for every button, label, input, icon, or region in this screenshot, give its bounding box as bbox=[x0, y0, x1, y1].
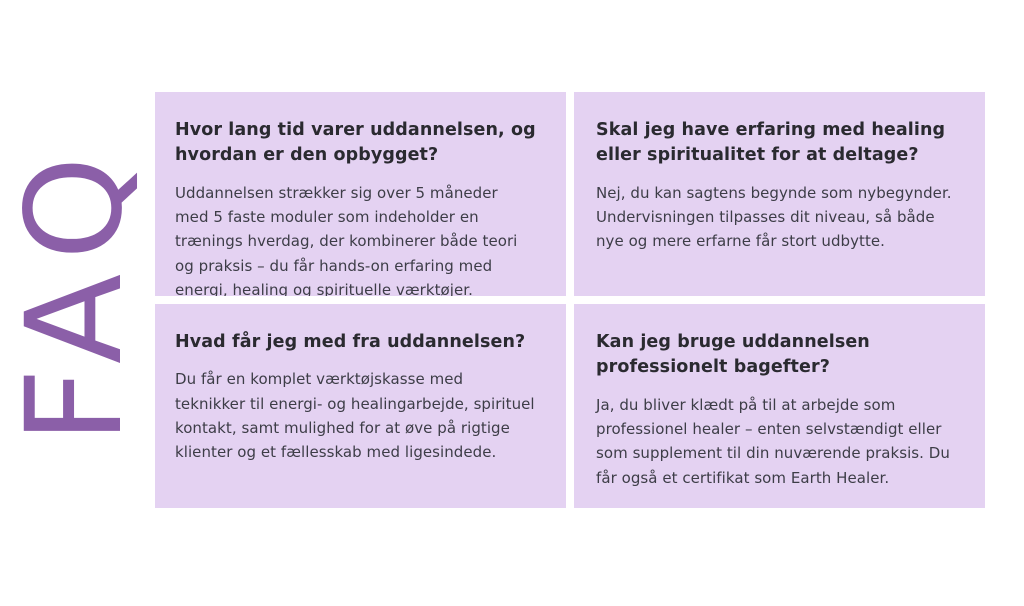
faq-answer: Ja, du bliver klædt på til at arbejde so… bbox=[596, 393, 955, 490]
faq-page: FAQ Hvor lang tid varer uddannelsen, og … bbox=[0, 0, 1024, 606]
faq-wordmark: FAQ bbox=[0, 92, 150, 492]
faq-question: Hvor lang tid varer uddannelsen, og hvor… bbox=[175, 118, 536, 169]
faq-question: Kan jeg bruge uddannelsen professionelt … bbox=[596, 330, 955, 381]
faq-answer: Nej, du kan sagtens begynde som nybegynd… bbox=[596, 181, 955, 254]
faq-card[interactable]: Hvor lang tid varer uddannelsen, og hvor… bbox=[155, 92, 566, 296]
faq-answer: Du får en komplet værktøjskasse med tekn… bbox=[175, 367, 536, 464]
faq-answer: Uddannelsen strækker sig over 5 måneder … bbox=[175, 181, 536, 296]
faq-question: Skal jeg have erfaring med healing eller… bbox=[596, 118, 955, 169]
faq-card[interactable]: Skal jeg have erfaring med healing eller… bbox=[574, 92, 985, 296]
faq-card[interactable]: Hvad får jeg med fra uddannelsen? Du får… bbox=[155, 304, 566, 508]
faq-card[interactable]: Kan jeg bruge uddannelsen professionelt … bbox=[574, 304, 985, 508]
faq-question: Hvad får jeg med fra uddannelsen? bbox=[175, 330, 536, 355]
faq-wordmark-text: FAQ bbox=[9, 140, 141, 444]
faq-card-grid: Hvor lang tid varer uddannelsen, og hvor… bbox=[155, 92, 985, 508]
